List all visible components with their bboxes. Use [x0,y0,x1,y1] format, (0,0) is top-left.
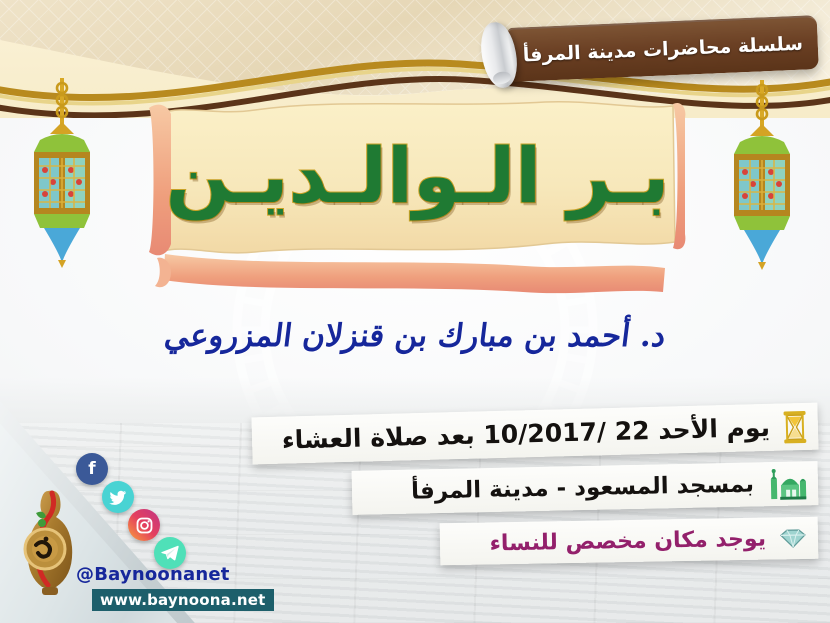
lecture-poster: سلسلة محاضرات مدينة المرفأ [0,0,830,623]
social-handle[interactable]: @Baynoonanet [76,564,230,585]
series-banner: سلسلة محاضرات مدينة المرفأ [482,28,818,86]
series-banner-label: سلسلة محاضرات مدينة المرفأ [522,33,803,67]
hourglass-icon [781,409,808,444]
mosque-icon [766,467,809,500]
social-links: f [72,453,192,561]
parchment-scroll: بـر الـوالـديـن [145,92,690,307]
info-row-women-notice-label: يوجد مكان مخصص للنساء [489,526,766,556]
info-row-venue-label: بمسجد المسعود - مدينة المرفأ [411,471,754,504]
series-banner-body: سلسلة محاضرات مدينة المرفأ [507,15,819,82]
lantern-left-icon [14,78,110,268]
lantern-right-icon [714,80,810,270]
diamond-icon [778,527,808,550]
main-title: بـر الـوالـديـن [145,138,690,214]
twitter-icon[interactable] [102,481,134,513]
info-row-women-notice: يوجد مكان مخصص للنساء [440,517,819,566]
website-url[interactable]: www.baynoona.net [92,589,274,611]
facebook-icon[interactable]: f [76,453,108,485]
instagram-icon[interactable] [128,509,160,541]
info-row-date-label: يوم الأحد 22 /10/2017 بعد صلاة العشاء [281,413,770,455]
speaker-name: د. أحمد بن مبارك بن قنزلان المزروعي [0,318,830,354]
